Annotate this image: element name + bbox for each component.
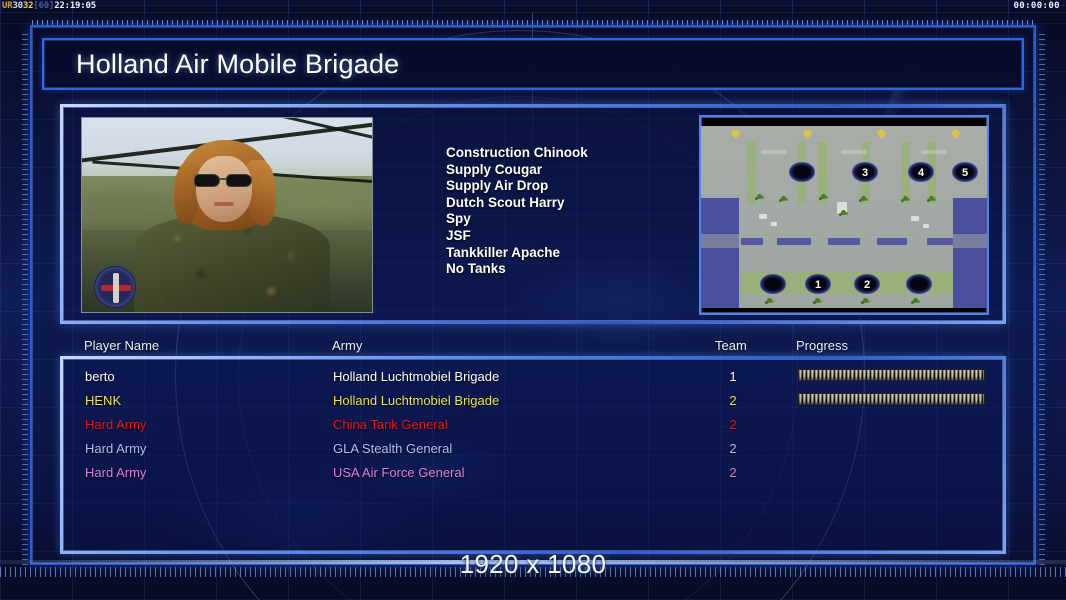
minimap-debris <box>923 224 929 228</box>
minimap-tree <box>815 298 820 303</box>
resolution-label: 1920 x 1080 <box>0 549 1066 580</box>
player-name: Hard Army <box>85 437 146 461</box>
minimap-tree <box>903 196 908 201</box>
os-bar-timer: 00:00:00 <box>1013 0 1060 13</box>
minimap-debris <box>759 214 767 219</box>
sunglasses-lens-right <box>226 174 252 187</box>
table-row: Hard Army GLA Stealth General 2 <box>63 437 1003 461</box>
player-name: Hard Army <box>85 413 146 437</box>
frame-ruler-right <box>1039 30 1045 565</box>
minimap-debris <box>921 150 947 154</box>
minimap-start-position-3: 3 <box>852 162 878 182</box>
table-row: Hard Army USA Air Force General 2 <box>63 461 1003 485</box>
minimap-bridge <box>927 238 953 245</box>
page-title: Holland Air Mobile Brigade <box>76 49 399 80</box>
minimap-grass <box>747 142 756 204</box>
player-team: 2 <box>725 437 741 461</box>
minimap-bridge <box>777 238 811 245</box>
minimap-start-position <box>789 162 815 182</box>
player-army: Holland Luchtmobiel Brigade <box>333 389 499 413</box>
minimap-tree <box>863 298 868 303</box>
minimap-tree <box>767 298 772 303</box>
army-info-panel: Construction Chinook Supply Cougar Suppl… <box>60 104 1006 324</box>
player-army: China Tank General <box>333 413 448 437</box>
loading-screen-root: UR3032[60]22:19:05 00:00:00 Holland Air … <box>0 0 1066 600</box>
minimap-tree <box>841 210 846 215</box>
os-status-bar: UR3032[60]22:19:05 00:00:00 <box>0 0 1066 13</box>
minimap-debris <box>911 216 919 221</box>
player-table-panel: berto Holland Luchtmobiel Brigade 1 HENK… <box>60 356 1006 554</box>
minimap-terrain: 3 4 5 1 2 <box>701 126 989 308</box>
minimap-debris <box>841 150 867 154</box>
minimap: 3 4 5 1 2 <box>699 115 989 315</box>
minimap-tree <box>913 298 918 303</box>
minimap-water-left <box>701 198 739 308</box>
player-army: USA Air Force General <box>333 461 465 485</box>
minimap-debris <box>761 150 787 154</box>
minimap-start-position-2: 2 <box>854 274 880 294</box>
player-name: Hard Army <box>85 461 146 485</box>
minimap-oil-derrick-icon <box>877 130 886 139</box>
minimap-start-position-5: 5 <box>952 162 978 182</box>
player-table-header: Player Name Army Team Progress <box>60 338 1006 358</box>
player-team: 1 <box>725 365 741 389</box>
minimap-bridge <box>828 238 860 245</box>
title-bar: Holland Air Mobile Brigade <box>42 38 1024 90</box>
minimap-start-position-1: 1 <box>805 274 831 294</box>
column-header-player-name: Player Name <box>84 338 159 353</box>
player-team: 2 <box>725 413 741 437</box>
column-header-team: Team <box>715 338 747 353</box>
minimap-debris <box>771 222 777 226</box>
portrait-face <box>196 156 252 222</box>
minimap-oil-derrick-icon <box>803 130 812 139</box>
player-army: Holland Luchtmobiel Brigade <box>333 365 499 389</box>
unit-insignia-icon <box>94 266 136 308</box>
minimap-start-position <box>906 274 932 294</box>
minimap-tree <box>861 196 866 201</box>
column-header-army: Army <box>332 338 362 353</box>
os-stat-prefix: UR <box>2 1 12 11</box>
table-row: HENK Holland Luchtmobiel Brigade 2 <box>63 389 1003 413</box>
os-stat-value-2: 32 <box>23 1 33 11</box>
player-progress-bar <box>797 393 985 405</box>
player-name: berto <box>85 365 115 389</box>
minimap-oil-derrick-icon <box>951 130 960 139</box>
frame-ruler-left <box>22 30 28 565</box>
portrait-mouth <box>214 202 234 206</box>
minimap-tree <box>821 194 826 199</box>
os-stat-value-1: 30 <box>12 1 22 11</box>
minimap-tree <box>757 194 762 199</box>
minimap-oil-derrick-icon <box>731 130 740 139</box>
player-team: 2 <box>725 389 741 413</box>
player-name: HENK <box>85 389 121 413</box>
os-stat-value-3: 60 <box>39 1 49 11</box>
table-row: Hard Army China Tank General 2 <box>63 413 1003 437</box>
player-progress-bar <box>797 369 985 381</box>
os-bar-stats: UR3032[60]22:19:05 <box>2 0 96 13</box>
minimap-start-position-4: 4 <box>908 162 934 182</box>
os-bar-grid <box>0 0 1066 13</box>
os-clock: 22:19:05 <box>54 1 96 11</box>
minimap-start-position <box>760 274 786 294</box>
minimap-tree <box>781 196 786 201</box>
army-portrait <box>81 117 373 313</box>
minimap-water-right <box>953 198 989 308</box>
minimap-bridge <box>877 238 907 245</box>
player-army: GLA Stealth General <box>333 437 452 461</box>
minimap-bridge <box>741 238 763 245</box>
minimap-tree <box>929 196 934 201</box>
player-team: 2 <box>725 461 741 485</box>
table-row: berto Holland Luchtmobiel Brigade 1 <box>63 365 1003 389</box>
sunglasses-icon <box>194 174 254 187</box>
column-header-progress: Progress <box>796 338 848 353</box>
sunglasses-lens-left <box>194 174 220 187</box>
